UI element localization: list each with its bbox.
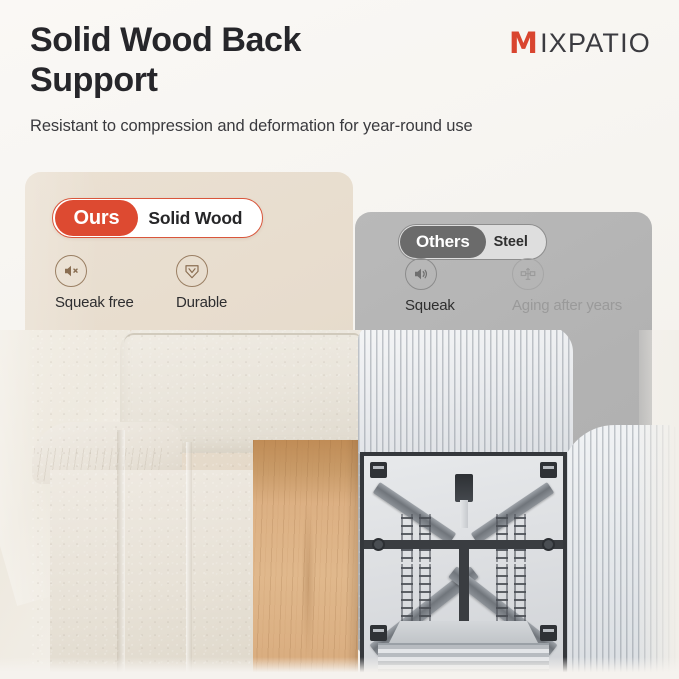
frame-bracket	[370, 625, 387, 641]
others-feature-aging: Aging after years	[512, 258, 622, 314]
ours-badge-chip: Ours	[55, 200, 139, 236]
frame-pivot-bolt	[542, 538, 555, 551]
wood-edge-shadow	[346, 440, 358, 679]
zigzag-spring	[401, 564, 413, 630]
logo-wordmark: IXPATIO	[540, 28, 651, 59]
solid-wood-back-panel	[253, 440, 358, 679]
cream-sofa-seam-left	[117, 430, 125, 679]
others-feature-label: Squeak	[405, 297, 455, 314]
frame-bottom-plate	[388, 621, 539, 645]
zigzag-spring	[401, 514, 413, 562]
infographic-root: Solid Wood Back Support Resistant to com…	[0, 0, 679, 679]
zigzag-spring	[419, 514, 431, 562]
zigzag-spring	[419, 564, 431, 630]
ours-feature-durable: Durable	[176, 255, 227, 311]
zigzag-spring	[514, 564, 526, 630]
others-material-badge: Others Steel	[398, 224, 547, 260]
brand-logo: M IXPATIO	[509, 28, 651, 59]
ours-feature-label: Durable	[176, 294, 227, 311]
zigzag-spring	[496, 514, 508, 562]
product-photo	[0, 330, 679, 679]
page-subtitle: Resistant to compression and deformation…	[30, 117, 473, 136]
page-title: Solid Wood Back Support	[30, 20, 430, 100]
frame-bracket	[370, 462, 387, 478]
zigzag-spring	[496, 564, 508, 630]
cream-sofa-seam-right	[186, 442, 192, 679]
frame-center-post	[460, 500, 468, 528]
frame-brace-upper-left	[373, 482, 457, 544]
ours-material-label: Solid Wood	[148, 208, 242, 229]
frame-joint-icon	[512, 258, 544, 290]
frame-interior	[364, 456, 563, 679]
others-badge-chip: Others	[400, 226, 486, 258]
ours-feature-label: Squeak free	[55, 294, 134, 311]
others-material-label: Steel	[494, 234, 528, 250]
others-feature-label: Aging after years	[512, 297, 622, 314]
frame-bracket	[540, 625, 557, 641]
logo-m-mark-icon: M	[509, 29, 539, 58]
steel-spring-frame	[360, 452, 567, 679]
frame-pivot-bolt	[372, 538, 385, 551]
shield-check-icon	[176, 255, 208, 287]
grey-sofa-backrest	[358, 330, 573, 454]
speaker-mute-icon	[55, 255, 87, 287]
frame-center-clip	[455, 474, 473, 502]
others-feature-squeak: Squeak	[405, 258, 455, 314]
grey-sofa-back-stripes	[358, 330, 573, 454]
header: Solid Wood Back Support Resistant to com…	[0, 0, 679, 160]
frame-bracket	[540, 462, 557, 478]
frame-brace-upper-right	[471, 482, 555, 544]
zigzag-spring	[514, 514, 526, 562]
photo-bottom-fade	[0, 657, 679, 679]
photo-right-fade	[639, 330, 679, 679]
ours-material-badge: Ours Solid Wood	[52, 198, 263, 238]
ours-feature-squeak-free: Squeak free	[55, 255, 134, 311]
wood-knot-mark	[301, 500, 315, 660]
speaker-sound-icon	[405, 258, 437, 290]
